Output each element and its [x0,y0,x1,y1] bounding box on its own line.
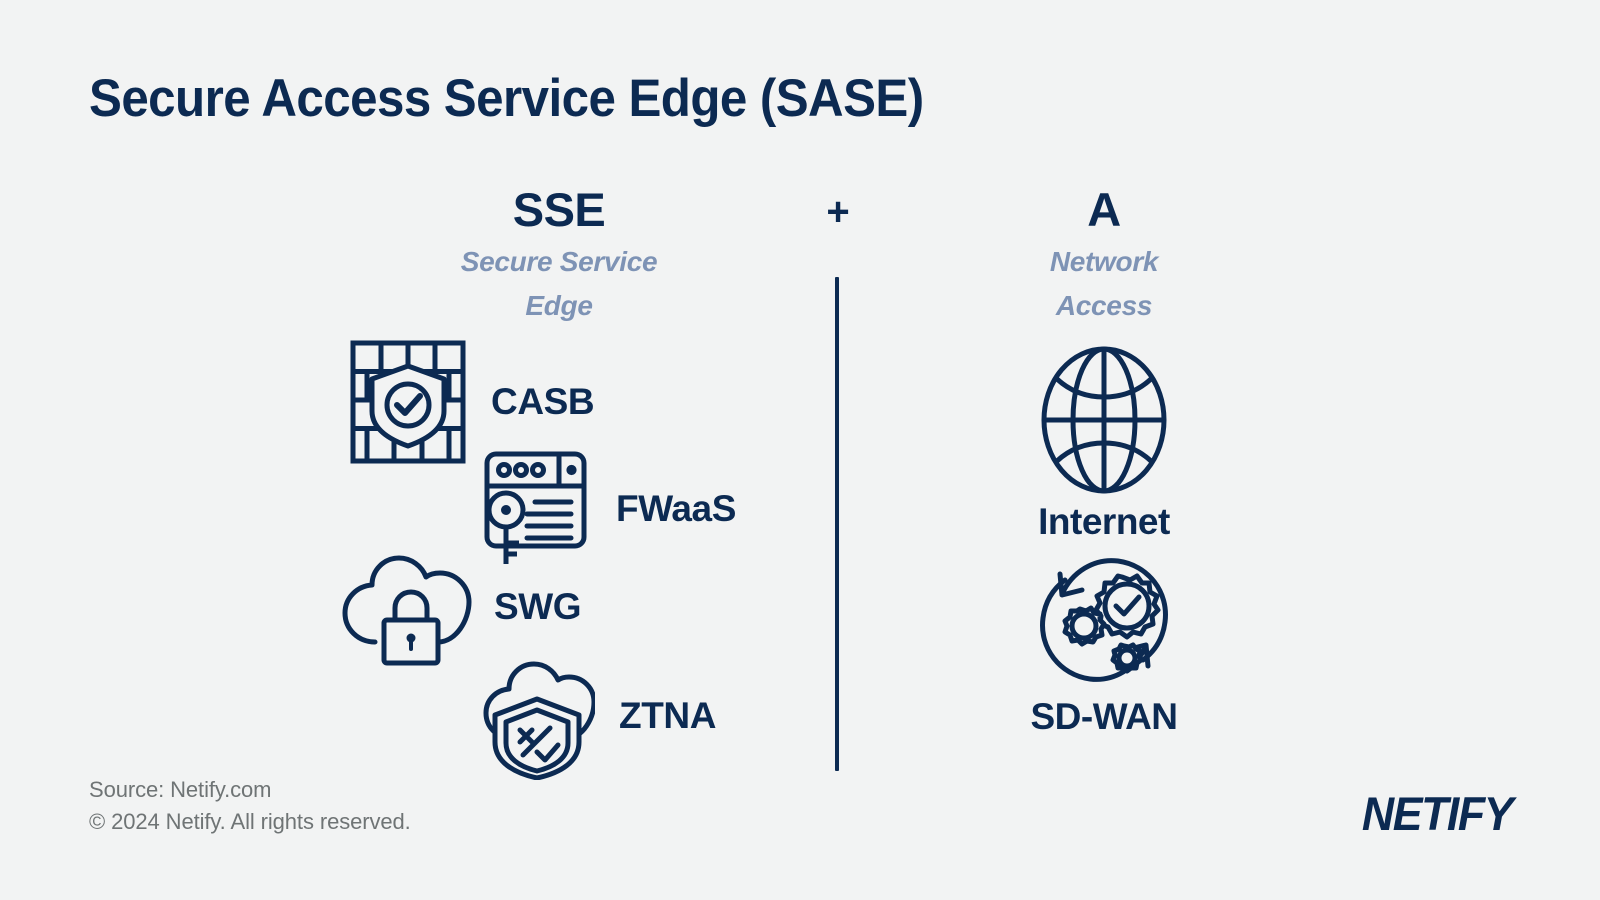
page-title: Secure Access Service Edge (SASE) [89,68,924,129]
list-item-label-casb: CASB [491,381,594,423]
column-expansion-access-line2: Access [994,284,1214,327]
column-divider [835,277,839,771]
infographic-canvas: Secure Access Service Edge (SASE) SSE Se… [0,0,1600,900]
list-item-casb: CASB [350,340,594,464]
netify-logo: NETIFY [1362,786,1512,841]
list-item-label-ztna: ZTNA [619,695,716,737]
column-expansion-sse-line2: Edge [399,284,719,327]
list-item-swg: SWG [338,548,581,666]
plus-operator: + [806,190,870,235]
list-item-internet: Internet [974,345,1234,543]
gears-refresh-check-icon [974,550,1234,690]
list-item-ztna: ZTNA [479,652,716,780]
globe-icon [974,345,1234,495]
list-item-label-swg: SWG [494,586,581,628]
footer-source: Source: Netify.com [89,777,271,803]
column-expansion-sse-line1: Secure Service [399,240,719,283]
column-heading-sse: SSE Secure Service Edge [399,185,719,327]
footer-copyright: © 2024 Netify. All rights reserved. [89,809,411,835]
list-item-label-sdwan: SD-WAN [974,696,1234,738]
list-item-sdwan: SD-WAN [974,550,1234,738]
cloud-padlock-icon [338,548,478,666]
column-abbr-access: A [994,185,1214,234]
list-item-label-fwaas: FWaaS [616,488,736,530]
list-item-label-internet: Internet [974,501,1234,543]
column-abbr-sse: SSE [399,185,719,234]
brick-wall-shield-check-icon [350,340,466,464]
column-heading-access: A Network Access [994,185,1214,327]
column-expansion-access: Network Access [994,240,1214,327]
column-expansion-sse: Secure Service Edge [399,240,719,327]
cloud-shield-check-cross-icon [479,652,595,780]
column-expansion-access-line1: Network [994,240,1214,283]
